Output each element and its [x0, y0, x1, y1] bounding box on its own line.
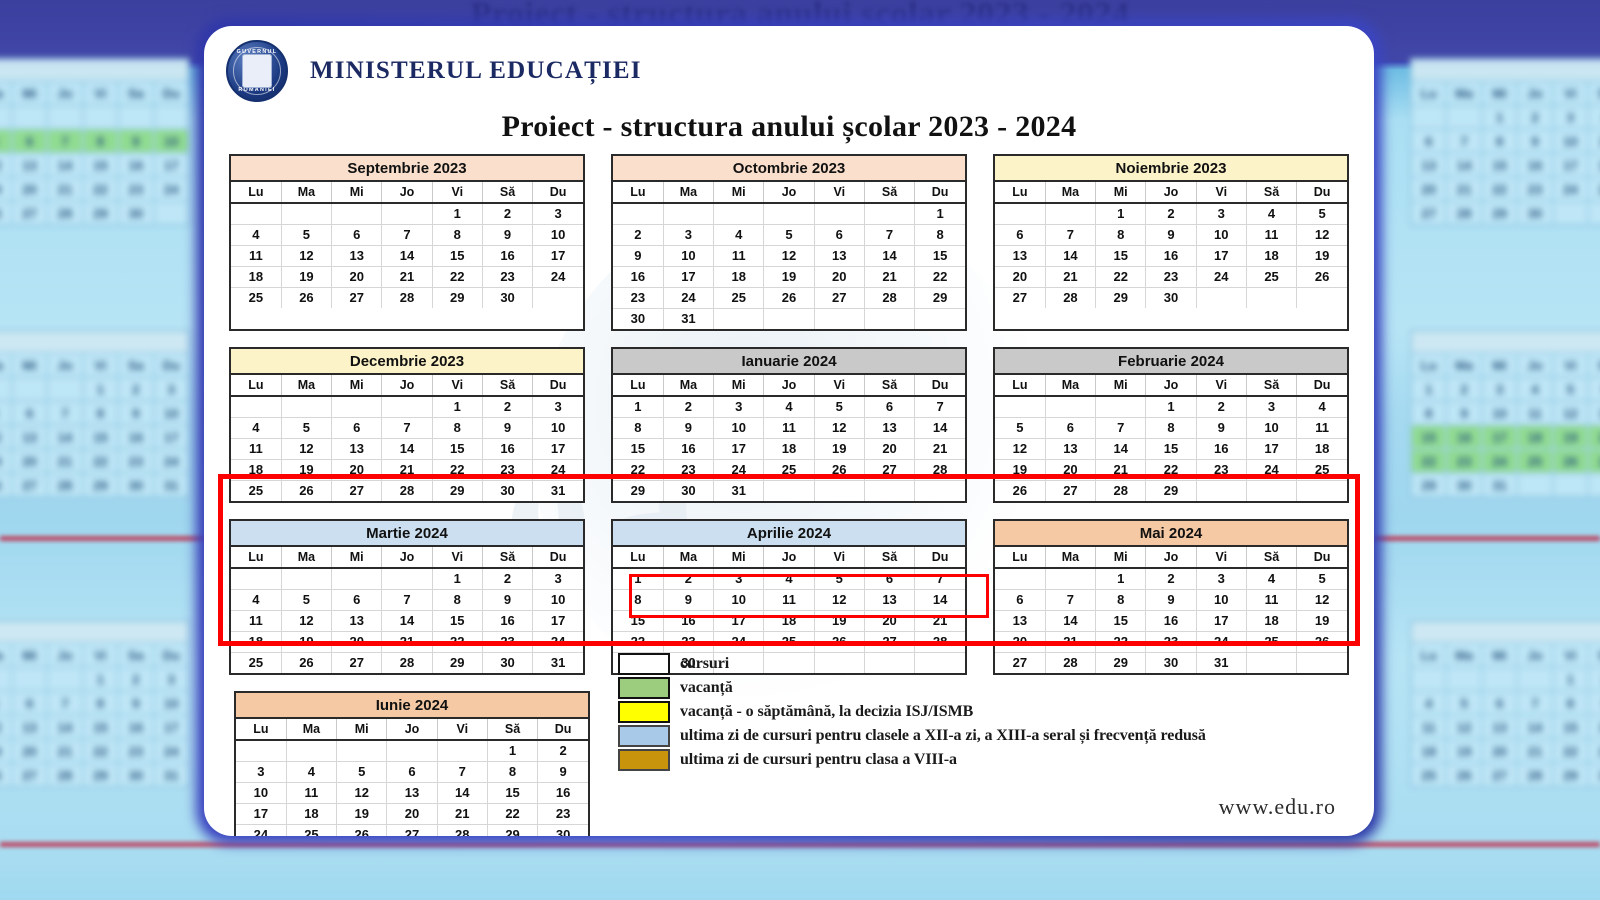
day-cell[interactable]: 1 [613, 568, 663, 589]
day-cell[interactable]: 15 [1096, 610, 1146, 631]
day-cell[interactable]: 23 [1146, 266, 1196, 287]
day-cell[interactable]: 6 [864, 396, 914, 417]
day-cell[interactable] [1045, 396, 1095, 417]
day-cell[interactable]: 30 [482, 287, 532, 308]
day-cell[interactable]: 5 [281, 417, 331, 438]
day-cell[interactable]: 16 [1146, 245, 1196, 266]
day-cell[interactable]: 16 [538, 782, 588, 803]
day-cell[interactable]: 7 [915, 396, 965, 417]
day-cell[interactable]: 29 [432, 287, 482, 308]
day-cell[interactable]: 27 [814, 287, 864, 308]
day-cell[interactable]: 22 [432, 459, 482, 480]
day-cell[interactable]: 21 [382, 459, 432, 480]
day-cell[interactable]: 21 [864, 266, 914, 287]
day-cell[interactable]: 20 [995, 631, 1045, 652]
day-cell[interactable] [814, 203, 864, 224]
day-cell[interactable]: 22 [613, 631, 663, 652]
day-cell[interactable]: 27 [332, 652, 382, 673]
day-cell[interactable]: 9 [663, 417, 713, 438]
day-cell[interactable]: 10 [1196, 589, 1246, 610]
day-cell[interactable]: 13 [814, 245, 864, 266]
day-cell[interactable]: 14 [1045, 245, 1095, 266]
day-cell[interactable] [814, 480, 864, 501]
day-cell[interactable]: 1 [613, 396, 663, 417]
day-cell[interactable]: 13 [1045, 438, 1095, 459]
day-cell[interactable]: 13 [387, 782, 437, 803]
day-cell[interactable]: 6 [995, 224, 1045, 245]
day-cell[interactable]: 28 [382, 480, 432, 501]
day-cell[interactable]: 15 [613, 438, 663, 459]
day-cell[interactable] [437, 740, 487, 761]
day-cell[interactable] [382, 203, 432, 224]
day-cell[interactable]: 7 [1045, 589, 1095, 610]
day-cell[interactable]: 31 [663, 308, 713, 329]
day-cell[interactable]: 18 [764, 610, 814, 631]
day-cell[interactable]: 13 [332, 438, 382, 459]
day-cell[interactable]: 21 [1045, 266, 1095, 287]
day-cell[interactable]: 4 [764, 396, 814, 417]
day-cell[interactable]: 18 [764, 438, 814, 459]
day-cell[interactable]: 17 [1246, 438, 1296, 459]
day-cell[interactable]: 2 [1146, 203, 1196, 224]
day-cell[interactable]: 7 [864, 224, 914, 245]
day-cell[interactable] [1196, 480, 1246, 501]
day-cell[interactable]: 4 [1246, 568, 1296, 589]
day-cell[interactable]: 3 [533, 203, 583, 224]
day-cell[interactable]: 12 [281, 610, 331, 631]
day-cell[interactable] [864, 203, 914, 224]
day-cell[interactable] [387, 740, 437, 761]
day-cell[interactable]: 4 [231, 417, 281, 438]
day-cell[interactable] [814, 308, 864, 329]
day-cell[interactable]: 9 [1146, 224, 1196, 245]
day-cell[interactable]: 30 [613, 308, 663, 329]
day-cell[interactable]: 6 [814, 224, 864, 245]
day-cell[interactable]: 5 [814, 396, 864, 417]
day-cell[interactable]: 1 [915, 203, 965, 224]
day-cell[interactable]: 14 [382, 438, 432, 459]
day-cell[interactable]: 17 [714, 438, 764, 459]
day-cell[interactable]: 29 [432, 652, 482, 673]
day-cell[interactable]: 18 [286, 803, 336, 824]
day-cell[interactable]: 3 [533, 568, 583, 589]
day-cell[interactable]: 21 [1045, 631, 1095, 652]
day-cell[interactable]: 6 [387, 761, 437, 782]
day-cell[interactable]: 14 [915, 589, 965, 610]
day-cell[interactable]: 23 [663, 459, 713, 480]
day-cell[interactable]: 22 [1096, 266, 1146, 287]
day-cell[interactable]: 6 [995, 589, 1045, 610]
day-cell[interactable]: 1 [1096, 568, 1146, 589]
day-cell[interactable]: 15 [432, 245, 482, 266]
day-cell[interactable]: 25 [231, 480, 281, 501]
day-cell[interactable] [332, 568, 382, 589]
day-cell[interactable]: 24 [236, 824, 286, 836]
day-cell[interactable]: 9 [663, 589, 713, 610]
day-cell[interactable]: 12 [814, 589, 864, 610]
day-cell[interactable] [533, 287, 583, 308]
day-cell[interactable]: 17 [236, 803, 286, 824]
day-cell[interactable]: 14 [382, 245, 432, 266]
day-cell[interactable]: 29 [915, 287, 965, 308]
day-cell[interactable]: 26 [281, 287, 331, 308]
day-cell[interactable]: 23 [1146, 631, 1196, 652]
day-cell[interactable] [1246, 287, 1296, 308]
day-cell[interactable] [915, 480, 965, 501]
day-cell[interactable]: 31 [714, 480, 764, 501]
day-cell[interactable]: 18 [231, 459, 281, 480]
day-cell[interactable]: 12 [814, 417, 864, 438]
day-cell[interactable]: 22 [1096, 631, 1146, 652]
day-cell[interactable] [995, 396, 1045, 417]
day-cell[interactable]: 14 [864, 245, 914, 266]
day-cell[interactable]: 21 [437, 803, 487, 824]
day-cell[interactable]: 31 [533, 480, 583, 501]
day-cell[interactable] [1297, 480, 1347, 501]
day-cell[interactable]: 24 [533, 266, 583, 287]
day-cell[interactable] [714, 203, 764, 224]
day-cell[interactable]: 8 [432, 417, 482, 438]
day-cell[interactable] [337, 740, 387, 761]
day-cell[interactable]: 21 [382, 266, 432, 287]
day-cell[interactable]: 10 [1196, 224, 1246, 245]
day-cell[interactable]: 9 [538, 761, 588, 782]
day-cell[interactable]: 19 [814, 610, 864, 631]
day-cell[interactable]: 23 [482, 459, 532, 480]
day-cell[interactable]: 29 [613, 480, 663, 501]
day-cell[interactable]: 23 [482, 266, 532, 287]
day-cell[interactable]: 24 [663, 287, 713, 308]
day-cell[interactable]: 25 [764, 631, 814, 652]
day-cell[interactable]: 11 [1246, 589, 1296, 610]
day-cell[interactable]: 20 [1045, 459, 1095, 480]
day-cell[interactable]: 19 [281, 631, 331, 652]
day-cell[interactable]: 13 [332, 245, 382, 266]
day-cell[interactable]: 26 [995, 480, 1045, 501]
day-cell[interactable]: 25 [231, 287, 281, 308]
day-cell[interactable]: 20 [332, 266, 382, 287]
day-cell[interactable]: 17 [1196, 245, 1246, 266]
day-cell[interactable]: 16 [663, 610, 713, 631]
day-cell[interactable]: 25 [764, 459, 814, 480]
day-cell[interactable]: 23 [538, 803, 588, 824]
day-cell[interactable]: 13 [864, 417, 914, 438]
day-cell[interactable]: 19 [1297, 245, 1347, 266]
day-cell[interactable]: 22 [487, 803, 537, 824]
day-cell[interactable]: 11 [231, 438, 281, 459]
day-cell[interactable]: 14 [382, 610, 432, 631]
day-cell[interactable]: 3 [663, 224, 713, 245]
day-cell[interactable]: 25 [1246, 631, 1296, 652]
day-cell[interactable]: 17 [533, 610, 583, 631]
day-cell[interactable]: 8 [432, 589, 482, 610]
day-cell[interactable]: 7 [1096, 417, 1146, 438]
day-cell[interactable]: 5 [1297, 568, 1347, 589]
day-cell[interactable]: 18 [714, 266, 764, 287]
day-cell[interactable]: 19 [814, 438, 864, 459]
day-cell[interactable]: 25 [286, 824, 336, 836]
day-cell[interactable] [995, 203, 1045, 224]
day-cell[interactable]: 19 [337, 803, 387, 824]
day-cell[interactable]: 12 [337, 782, 387, 803]
day-cell[interactable]: 3 [1196, 203, 1246, 224]
day-cell[interactable]: 29 [1096, 287, 1146, 308]
day-cell[interactable]: 21 [915, 610, 965, 631]
day-cell[interactable]: 8 [1146, 417, 1196, 438]
day-cell[interactable]: 8 [1096, 589, 1146, 610]
day-cell[interactable]: 15 [432, 610, 482, 631]
day-cell[interactable] [236, 740, 286, 761]
day-cell[interactable]: 14 [915, 417, 965, 438]
day-cell[interactable]: 9 [1196, 417, 1246, 438]
day-cell[interactable]: 30 [482, 480, 532, 501]
day-cell[interactable] [764, 203, 814, 224]
day-cell[interactable]: 18 [1246, 245, 1296, 266]
day-cell[interactable]: 14 [1096, 438, 1146, 459]
day-cell[interactable]: 2 [538, 740, 588, 761]
day-cell[interactable]: 21 [382, 631, 432, 652]
day-cell[interactable]: 15 [1146, 438, 1196, 459]
day-cell[interactable] [281, 396, 331, 417]
day-cell[interactable]: 2 [613, 224, 663, 245]
day-cell[interactable]: 11 [714, 245, 764, 266]
day-cell[interactable]: 18 [231, 266, 281, 287]
day-cell[interactable] [663, 203, 713, 224]
day-cell[interactable]: 10 [533, 417, 583, 438]
day-cell[interactable]: 26 [764, 287, 814, 308]
day-cell[interactable] [1045, 203, 1095, 224]
day-cell[interactable]: 4 [1246, 203, 1296, 224]
day-cell[interactable]: 18 [231, 631, 281, 652]
day-cell[interactable] [1196, 287, 1246, 308]
day-cell[interactable] [1045, 568, 1095, 589]
day-cell[interactable]: 9 [482, 589, 532, 610]
day-cell[interactable]: 5 [281, 224, 331, 245]
day-cell[interactable] [764, 308, 814, 329]
day-cell[interactable]: 7 [915, 568, 965, 589]
day-cell[interactable]: 2 [482, 396, 532, 417]
day-cell[interactable]: 28 [915, 459, 965, 480]
day-cell[interactable]: 9 [1146, 589, 1196, 610]
day-cell[interactable]: 16 [1196, 438, 1246, 459]
day-cell[interactable]: 28 [864, 287, 914, 308]
day-cell[interactable] [332, 203, 382, 224]
day-cell[interactable] [1246, 652, 1296, 673]
day-cell[interactable] [764, 480, 814, 501]
day-cell[interactable]: 12 [281, 438, 331, 459]
day-cell[interactable]: 30 [663, 480, 713, 501]
day-cell[interactable]: 29 [487, 824, 537, 836]
day-cell[interactable]: 28 [1045, 287, 1095, 308]
day-cell[interactable]: 15 [915, 245, 965, 266]
day-cell[interactable]: 26 [814, 459, 864, 480]
day-cell[interactable]: 12 [764, 245, 814, 266]
day-cell[interactable]: 9 [482, 224, 532, 245]
day-cell[interactable]: 19 [281, 459, 331, 480]
day-cell[interactable]: 28 [437, 824, 487, 836]
day-cell[interactable]: 22 [1146, 459, 1196, 480]
day-cell[interactable]: 25 [714, 287, 764, 308]
day-cell[interactable]: 25 [1297, 459, 1347, 480]
day-cell[interactable]: 12 [1297, 589, 1347, 610]
day-cell[interactable] [231, 396, 281, 417]
day-cell[interactable]: 10 [1246, 417, 1296, 438]
day-cell[interactable]: 24 [1196, 631, 1246, 652]
day-cell[interactable]: 24 [533, 459, 583, 480]
day-cell[interactable]: 8 [915, 224, 965, 245]
day-cell[interactable]: 11 [1246, 224, 1296, 245]
day-cell[interactable]: 2 [1146, 568, 1196, 589]
day-cell[interactable]: 23 [663, 631, 713, 652]
day-cell[interactable] [915, 308, 965, 329]
day-cell[interactable]: 8 [1096, 224, 1146, 245]
day-cell[interactable]: 2 [482, 203, 532, 224]
day-cell[interactable]: 14 [437, 782, 487, 803]
day-cell[interactable]: 19 [764, 266, 814, 287]
day-cell[interactable]: 20 [864, 610, 914, 631]
day-cell[interactable]: 24 [533, 631, 583, 652]
day-cell[interactable]: 27 [1045, 480, 1095, 501]
day-cell[interactable] [231, 203, 281, 224]
day-cell[interactable]: 8 [613, 589, 663, 610]
day-cell[interactable]: 4 [231, 224, 281, 245]
day-cell[interactable]: 6 [864, 568, 914, 589]
day-cell[interactable]: 22 [613, 459, 663, 480]
day-cell[interactable]: 3 [236, 761, 286, 782]
day-cell[interactable]: 24 [1196, 266, 1246, 287]
day-cell[interactable]: 20 [814, 266, 864, 287]
day-cell[interactable] [613, 203, 663, 224]
day-cell[interactable]: 5 [337, 761, 387, 782]
day-cell[interactable]: 16 [613, 266, 663, 287]
day-cell[interactable]: 27 [864, 459, 914, 480]
day-cell[interactable]: 23 [613, 287, 663, 308]
day-cell[interactable]: 16 [663, 438, 713, 459]
day-cell[interactable]: 9 [482, 417, 532, 438]
day-cell[interactable]: 24 [1246, 459, 1296, 480]
day-cell[interactable]: 1 [1096, 203, 1146, 224]
day-cell[interactable]: 10 [714, 417, 764, 438]
day-cell[interactable]: 18 [1246, 610, 1296, 631]
day-cell[interactable]: 2 [482, 568, 532, 589]
day-cell[interactable]: 6 [1045, 417, 1095, 438]
day-cell[interactable]: 30 [1146, 287, 1196, 308]
day-cell[interactable]: 4 [714, 224, 764, 245]
day-cell[interactable]: 13 [995, 610, 1045, 631]
day-cell[interactable]: 11 [231, 610, 281, 631]
day-cell[interactable]: 7 [437, 761, 487, 782]
day-cell[interactable]: 26 [1297, 631, 1347, 652]
day-cell[interactable]: 26 [281, 652, 331, 673]
day-cell[interactable]: 22 [432, 631, 482, 652]
day-cell[interactable]: 4 [764, 568, 814, 589]
day-cell[interactable]: 20 [332, 631, 382, 652]
day-cell[interactable]: 20 [387, 803, 437, 824]
day-cell[interactable]: 29 [432, 480, 482, 501]
day-cell[interactable]: 27 [387, 824, 437, 836]
day-cell[interactable]: 7 [382, 417, 432, 438]
day-cell[interactable]: 16 [1146, 610, 1196, 631]
day-cell[interactable]: 25 [1246, 266, 1296, 287]
day-cell[interactable] [382, 568, 432, 589]
day-cell[interactable]: 5 [814, 568, 864, 589]
day-cell[interactable] [714, 308, 764, 329]
day-cell[interactable]: 17 [533, 245, 583, 266]
day-cell[interactable]: 28 [382, 652, 432, 673]
day-cell[interactable]: 23 [482, 631, 532, 652]
day-cell[interactable]: 27 [995, 287, 1045, 308]
day-cell[interactable]: 3 [533, 396, 583, 417]
day-cell[interactable]: 1 [432, 203, 482, 224]
day-cell[interactable]: 10 [533, 224, 583, 245]
day-cell[interactable]: 5 [764, 224, 814, 245]
day-cell[interactable]: 2 [1196, 396, 1246, 417]
day-cell[interactable]: 21 [915, 438, 965, 459]
day-cell[interactable]: 23 [1196, 459, 1246, 480]
day-cell[interactable] [864, 480, 914, 501]
day-cell[interactable]: 8 [432, 224, 482, 245]
day-cell[interactable]: 4 [286, 761, 336, 782]
day-cell[interactable]: 27 [332, 480, 382, 501]
day-cell[interactable]: 22 [915, 266, 965, 287]
day-cell[interactable]: 30 [482, 652, 532, 673]
day-cell[interactable]: 12 [1297, 224, 1347, 245]
day-cell[interactable]: 8 [487, 761, 537, 782]
day-cell[interactable]: 3 [714, 568, 764, 589]
day-cell[interactable]: 17 [1196, 610, 1246, 631]
day-cell[interactable]: 8 [613, 417, 663, 438]
day-cell[interactable]: 13 [995, 245, 1045, 266]
day-cell[interactable]: 19 [995, 459, 1045, 480]
day-cell[interactable] [281, 203, 331, 224]
day-cell[interactable] [864, 308, 914, 329]
day-cell[interactable]: 11 [1297, 417, 1347, 438]
day-cell[interactable]: 13 [864, 589, 914, 610]
day-cell[interactable]: 17 [533, 438, 583, 459]
day-cell[interactable]: 13 [332, 610, 382, 631]
day-cell[interactable]: 30 [538, 824, 588, 836]
day-cell[interactable]: 1 [1146, 396, 1196, 417]
day-cell[interactable]: 12 [281, 245, 331, 266]
day-cell[interactable]: 31 [533, 652, 583, 673]
day-cell[interactable] [281, 568, 331, 589]
day-cell[interactable]: 15 [487, 782, 537, 803]
day-cell[interactable]: 28 [915, 631, 965, 652]
day-cell[interactable]: 15 [432, 438, 482, 459]
day-cell[interactable]: 11 [231, 245, 281, 266]
day-cell[interactable]: 24 [714, 459, 764, 480]
day-cell[interactable]: 16 [482, 245, 532, 266]
day-cell[interactable]: 3 [1246, 396, 1296, 417]
day-cell[interactable]: 20 [995, 266, 1045, 287]
day-cell[interactable]: 10 [236, 782, 286, 803]
day-cell[interactable]: 18 [1297, 438, 1347, 459]
day-cell[interactable]: 26 [814, 631, 864, 652]
day-cell[interactable]: 5 [1297, 203, 1347, 224]
day-cell[interactable]: 17 [714, 610, 764, 631]
day-cell[interactable]: 15 [1096, 245, 1146, 266]
day-cell[interactable]: 3 [714, 396, 764, 417]
day-cell[interactable]: 5 [281, 589, 331, 610]
day-cell[interactable]: 6 [332, 417, 382, 438]
day-cell[interactable] [286, 740, 336, 761]
day-cell[interactable]: 1 [432, 396, 482, 417]
day-cell[interactable]: 27 [864, 631, 914, 652]
day-cell[interactable]: 11 [286, 782, 336, 803]
day-cell[interactable] [231, 568, 281, 589]
day-cell[interactable]: 6 [332, 224, 382, 245]
day-cell[interactable]: 19 [1297, 610, 1347, 631]
